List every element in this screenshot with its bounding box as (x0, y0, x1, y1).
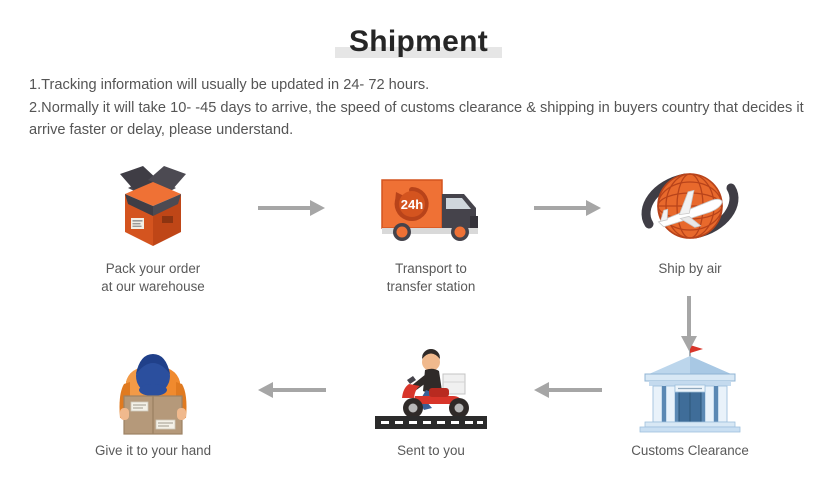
flow-step-label: Ship by air (590, 260, 790, 278)
note-line-2: 2.Normally it will take 10- -45 days to … (29, 97, 809, 142)
flow-step-label: Transport to transfer station (331, 260, 531, 295)
flow-step-customs-clearance: Customs Clearance (590, 340, 790, 460)
arrow-air-to-customs (681, 296, 697, 352)
note-line-1: 1.Tracking information will usually be u… (29, 74, 809, 97)
flow-step-label: Sent to you (331, 442, 531, 460)
scooter-courier-icon (331, 340, 531, 436)
page-title: Shipment (0, 22, 837, 62)
courier-handoff-icon (53, 340, 253, 436)
flow-step-label: Give it to your hand (53, 442, 253, 460)
flow-step-ship-by-air: Ship by air (590, 158, 790, 278)
package-box-icon (53, 158, 253, 254)
flow-step-label: Pack your order at our warehouse (53, 260, 253, 295)
flow-step-sent-to-you: Sent to you (331, 340, 531, 460)
arrow-customs-to-sent (534, 382, 602, 398)
flow-step-pack-order: Pack your order at our warehouse (53, 158, 253, 295)
customs-building-icon (590, 340, 790, 436)
arrow-pack-to-transport (258, 200, 326, 216)
globe-airplane-icon (590, 158, 790, 254)
page-title-text: Shipment (349, 25, 488, 58)
flow-step-label: Customs Clearance (590, 442, 790, 460)
arrow-sent-to-hand (258, 382, 326, 398)
svg-text:24h: 24h (401, 197, 423, 212)
arrow-transport-to-air (534, 200, 602, 216)
delivery-truck-icon: 24h (331, 158, 531, 254)
flow-step-give-to-hand: Give it to your hand (53, 340, 253, 460)
flow-step-transport: 24h Transport to transfer station (331, 158, 531, 295)
shipping-notes: 1.Tracking information will usually be u… (29, 74, 809, 142)
shipment-flow-diagram: Pack your order at our warehouse 24h (0, 150, 837, 480)
